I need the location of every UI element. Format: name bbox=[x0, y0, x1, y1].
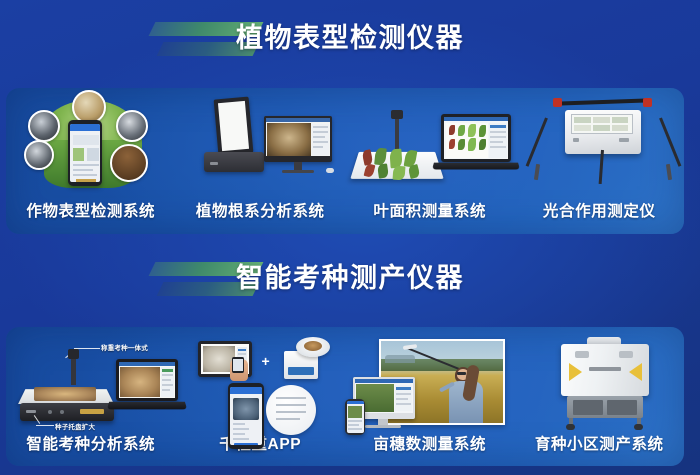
leaf-area-scanner-laptop-icon bbox=[345, 88, 515, 199]
product-card-leaf-area[interactable]: 叶面积测量系统 bbox=[345, 88, 515, 234]
section-1-panel: 作物表型检测系统 bbox=[6, 88, 684, 234]
product-label: 育种小区测产系统 bbox=[535, 432, 664, 454]
product-label: 植物根系分析系统 bbox=[196, 199, 325, 221]
section-title-1: 植物表型检测仪器 bbox=[0, 14, 700, 66]
thousand-grain-weight-app-icon: + bbox=[176, 327, 346, 432]
section-2-panel: 称重考种一体式 种子托盘扩大 bbox=[6, 327, 684, 466]
section-1-heading: 植物表型检测仪器 bbox=[0, 14, 700, 62]
phenotype-app-bubbles-icon bbox=[6, 88, 176, 199]
annotation-label: 称重考种一体式 bbox=[101, 342, 148, 352]
plot-yield-machine-icon bbox=[515, 327, 685, 432]
annotation-label: 种子托盘扩大 bbox=[55, 421, 95, 431]
product-card-grain-weight-app[interactable]: + bbox=[176, 327, 346, 466]
product-card-seed-analyzer[interactable]: 称重考种一体式 种子托盘扩大 bbox=[6, 327, 176, 466]
section-title-2: 智能考种测产仪器 bbox=[0, 254, 700, 306]
plus-symbol: + bbox=[262, 353, 270, 369]
product-card-root-analysis[interactable]: 植物根系分析系统 bbox=[176, 88, 346, 234]
product-card-plot-yield[interactable]: 育种小区测产系统 bbox=[515, 327, 685, 466]
seed-analyzer-laptop-icon: 称重考种一体式 种子托盘扩大 bbox=[6, 327, 176, 432]
product-card-crop-phenotype[interactable]: 作物表型检测系统 bbox=[6, 88, 176, 234]
section-2-card-row: 称重考种一体式 种子托盘扩大 bbox=[6, 327, 684, 466]
phone-mockup bbox=[68, 120, 102, 186]
product-card-photosynthesis[interactable]: 光合作用测定仪 bbox=[515, 88, 685, 234]
product-catalog-page: 植物表型检测仪器 bbox=[0, 0, 700, 475]
product-label: 作物表型检测系统 bbox=[26, 199, 155, 221]
photosynthesis-meter-icon bbox=[515, 88, 685, 199]
product-label: 亩穗数测量系统 bbox=[373, 432, 486, 454]
spike-count-field-monitor-icon bbox=[345, 327, 515, 432]
product-label: 叶面积测量系统 bbox=[373, 199, 486, 221]
phone-mockup bbox=[228, 383, 264, 449]
product-card-spike-count[interactable]: 亩穗数测量系统 bbox=[345, 327, 515, 466]
section-2-heading: 智能考种测产仪器 bbox=[0, 254, 700, 302]
product-label: 智能考种分析系统 bbox=[26, 432, 155, 454]
section-1-card-row: 作物表型检测系统 bbox=[6, 88, 684, 234]
product-label: 光合作用测定仪 bbox=[543, 199, 656, 221]
root-scanner-monitor-icon bbox=[176, 88, 346, 199]
